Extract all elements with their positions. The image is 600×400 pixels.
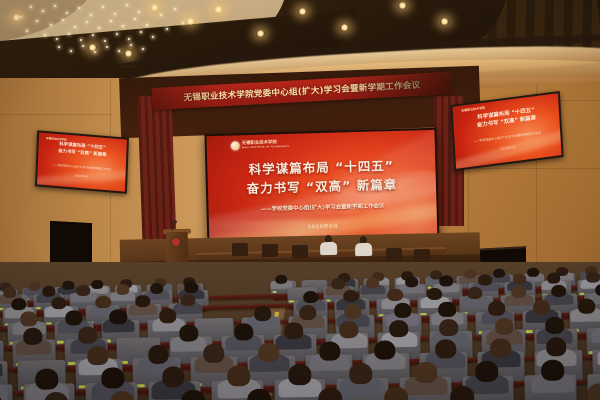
attendee-head — [110, 309, 127, 324]
attendee-head — [533, 300, 550, 315]
attendee-head — [450, 386, 475, 400]
attendee-head — [488, 301, 505, 316]
wall-seam — [0, 114, 112, 115]
seated-official — [355, 236, 372, 256]
attendee-head — [331, 279, 345, 290]
attendee-head — [179, 325, 198, 342]
attendee-head — [464, 269, 476, 278]
attendee-head — [478, 275, 492, 286]
stage-curtain-left — [137, 96, 176, 246]
downlight — [214, 6, 223, 13]
attendee-head — [541, 360, 564, 381]
stage-chair — [232, 243, 248, 256]
attendee-head — [91, 280, 103, 289]
attendee-head — [299, 305, 316, 320]
attendee-head — [35, 369, 58, 390]
attendee-head — [28, 281, 40, 290]
attendee-head — [319, 342, 340, 361]
seat-number-tag — [57, 341, 64, 344]
attendee-head — [490, 338, 511, 357]
downlight — [12, 14, 21, 21]
attendee-head — [23, 328, 42, 345]
attendee-head — [159, 308, 176, 323]
room: 无锡职业技术学院党委中心组(扩大)学习会暨新学期工作会议 无锡职业技术学院 WU… — [0, 0, 600, 400]
attendee-head — [551, 284, 567, 297]
school-logo-text: 无锡职业技术学院 WUXI INSTITUTE OF TECHNOLOGY — [242, 141, 290, 150]
attendee-head — [259, 343, 280, 362]
podium — [166, 232, 189, 265]
seat-number-tag — [525, 330, 532, 333]
attendee-head — [339, 321, 358, 338]
stage-chair — [386, 248, 402, 261]
attendee-head — [344, 304, 361, 319]
attendee-head — [288, 364, 311, 385]
downlight — [124, 50, 133, 57]
left-monitor-title: 科学谋篇布局 “十四五” 奋力书写 “双高” 新篇章 — [38, 141, 126, 162]
attendee-head — [227, 365, 250, 386]
attendee-head — [439, 319, 458, 336]
right-wall-monitor: 无锡职业技术学院 科学谋篇布局 “十四五” 奋力书写 “双高” 新篇章 ——学校… — [450, 91, 563, 171]
attendee-head — [545, 317, 564, 334]
attendee-head — [387, 288, 403, 301]
stage-chair — [414, 249, 430, 262]
seat-number-tag — [420, 313, 426, 316]
attendee-head — [203, 344, 224, 363]
attendee-head — [254, 306, 271, 321]
led-slide: 无锡职业技术学院 WUXI INSTITUTE OF TECHNOLOGY 科学… — [206, 130, 437, 248]
attendee-head — [435, 339, 456, 358]
attendee-head — [184, 283, 198, 294]
main-led-screen: 无锡职业技术学院 WUXI INSTITUTE OF TECHNOLOGY 科学… — [204, 128, 439, 250]
left-monitor-logo: 无锡职业技术学院 — [46, 136, 67, 142]
downlight — [298, 8, 307, 15]
attendee-head — [527, 267, 539, 276]
attendee-head — [415, 362, 438, 383]
attendee-head — [578, 299, 595, 314]
slide-title: 科学谋篇布局 “十四五” 奋力书写 “双高” 新篇章 — [207, 156, 436, 200]
attendee-head — [389, 320, 408, 337]
person-torso — [355, 243, 372, 256]
attendee-head — [162, 366, 185, 387]
attendee-head — [343, 289, 359, 302]
school-name-en: WUXI INSTITUTE OF TECHNOLOGY — [242, 146, 289, 150]
seat-number-tag — [46, 322, 52, 325]
attendee-head — [51, 297, 67, 310]
attendee-head — [234, 324, 253, 341]
attendee-head — [62, 280, 74, 289]
downlight — [398, 2, 407, 9]
right-monitor-logo: 无锡职业技术学院 — [461, 106, 485, 113]
stage-chair — [262, 244, 278, 257]
attendee-head — [101, 368, 124, 389]
seated-official — [320, 235, 337, 255]
attendee-head — [467, 286, 483, 299]
attendee-head — [284, 322, 303, 339]
left-wall-monitor: 无锡职业技术学院 科学谋篇布局 “十四五” 奋力书写 “双高” 新篇章 ——学校… — [35, 130, 129, 194]
school-logo: 无锡职业技术学院 WUXI INSTITUTE OF TECHNOLOGY — [231, 140, 290, 151]
downlight — [340, 24, 349, 31]
attendee-head — [96, 295, 112, 308]
attendee-head — [439, 276, 453, 287]
stage-chair — [292, 245, 308, 258]
downlight — [440, 18, 449, 25]
downlight — [186, 18, 195, 25]
seat-number-tag — [272, 291, 277, 294]
person-torso — [320, 242, 337, 255]
attendee-head — [374, 341, 395, 360]
attendee-head — [586, 272, 600, 283]
attendee-head — [65, 310, 82, 325]
seat-number-tag — [68, 362, 76, 365]
right-monitor-screen: 无锡职业技术学院 科学谋篇布局 “十四五” 奋力书写 “双高” 新篇章 ——学校… — [452, 93, 561, 169]
attendee-head — [495, 318, 514, 335]
attendee-head — [394, 303, 411, 318]
attendee-head — [546, 337, 567, 356]
attendee-head — [180, 293, 196, 306]
attendee-head — [148, 345, 169, 364]
wall-seam — [468, 168, 600, 169]
school-emblem-icon — [231, 141, 240, 150]
downlight — [256, 30, 265, 37]
attendee-head — [475, 361, 498, 382]
attendee-head — [78, 327, 97, 344]
audience-area — [0, 262, 600, 400]
attendee-head — [87, 346, 108, 365]
downlight — [150, 4, 159, 11]
downlight — [88, 44, 97, 51]
attendee-head — [493, 268, 505, 277]
attendee-head — [349, 363, 372, 384]
left-monitor-screen: 无锡职业技术学院 科学谋篇布局 “十四五” 奋力书写 “双高” 新篇章 ——学校… — [37, 132, 127, 191]
attendee-head — [275, 274, 287, 283]
attendee-head — [76, 285, 90, 296]
attendee-head — [20, 311, 37, 326]
attendee-head — [438, 302, 455, 317]
auditorium-photo: 无锡职业技术学院党委中心组(扩大)学习会暨新学期工作会议 无锡职业技术学院 WU… — [0, 0, 600, 400]
